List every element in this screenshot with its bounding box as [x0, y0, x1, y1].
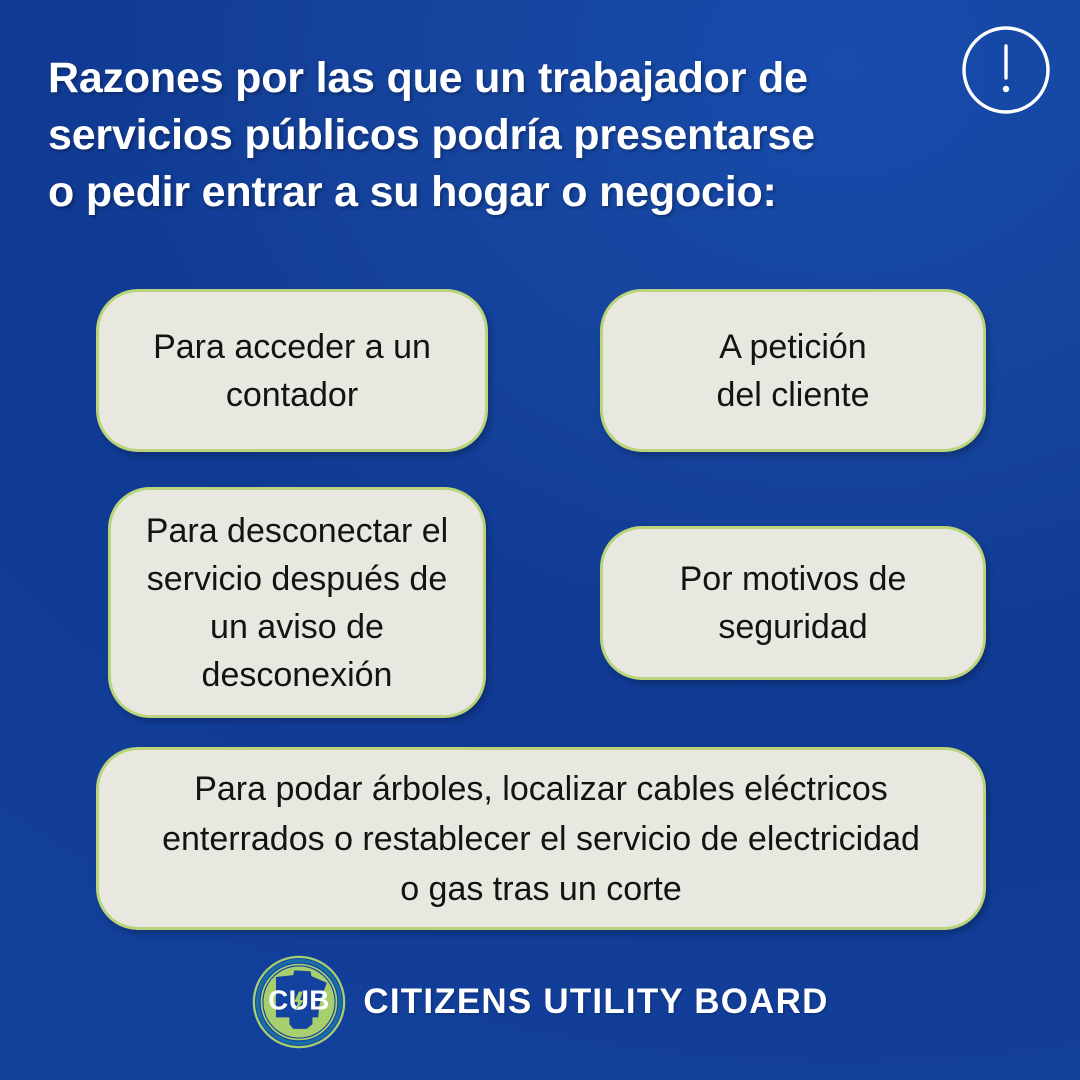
reason-card-trees-lines-restore[interactable]: Para podar árboles, localizar cables elé…	[96, 747, 986, 930]
reason-card-safety-reasons[interactable]: Por motivos de seguridad	[600, 526, 986, 680]
reason-card-label: Para podar árboles, localizar cables elé…	[136, 764, 946, 914]
reason-card-label: Para desconectar el servicio después de …	[120, 507, 474, 699]
page-title: Razones por las que un trabajador de ser…	[48, 50, 908, 221]
infographic-poster: Razones por las que un trabajador de ser…	[0, 0, 1080, 1080]
organization-name: CITIZENS UTILITY BOARD	[363, 982, 828, 1022]
cub-logo-icon: CUB	[251, 954, 347, 1050]
header: Razones por las que un trabajador de ser…	[48, 50, 908, 221]
footer-branding: CUB CITIZENS UTILITY BOARD	[0, 952, 1080, 1052]
reason-card-customer-request[interactable]: A petición del cliente	[600, 289, 986, 452]
reason-card-access-meter[interactable]: Para acceder a un contador	[96, 289, 488, 452]
exclamation-circle-icon	[956, 20, 1056, 120]
reason-card-label: A petición del cliente	[690, 323, 895, 419]
reason-card-label: Por motivos de seguridad	[654, 555, 933, 651]
reason-card-label: Para acceder a un contador	[127, 323, 457, 419]
reason-card-disconnect-service[interactable]: Para desconectar el servicio después de …	[108, 487, 486, 718]
